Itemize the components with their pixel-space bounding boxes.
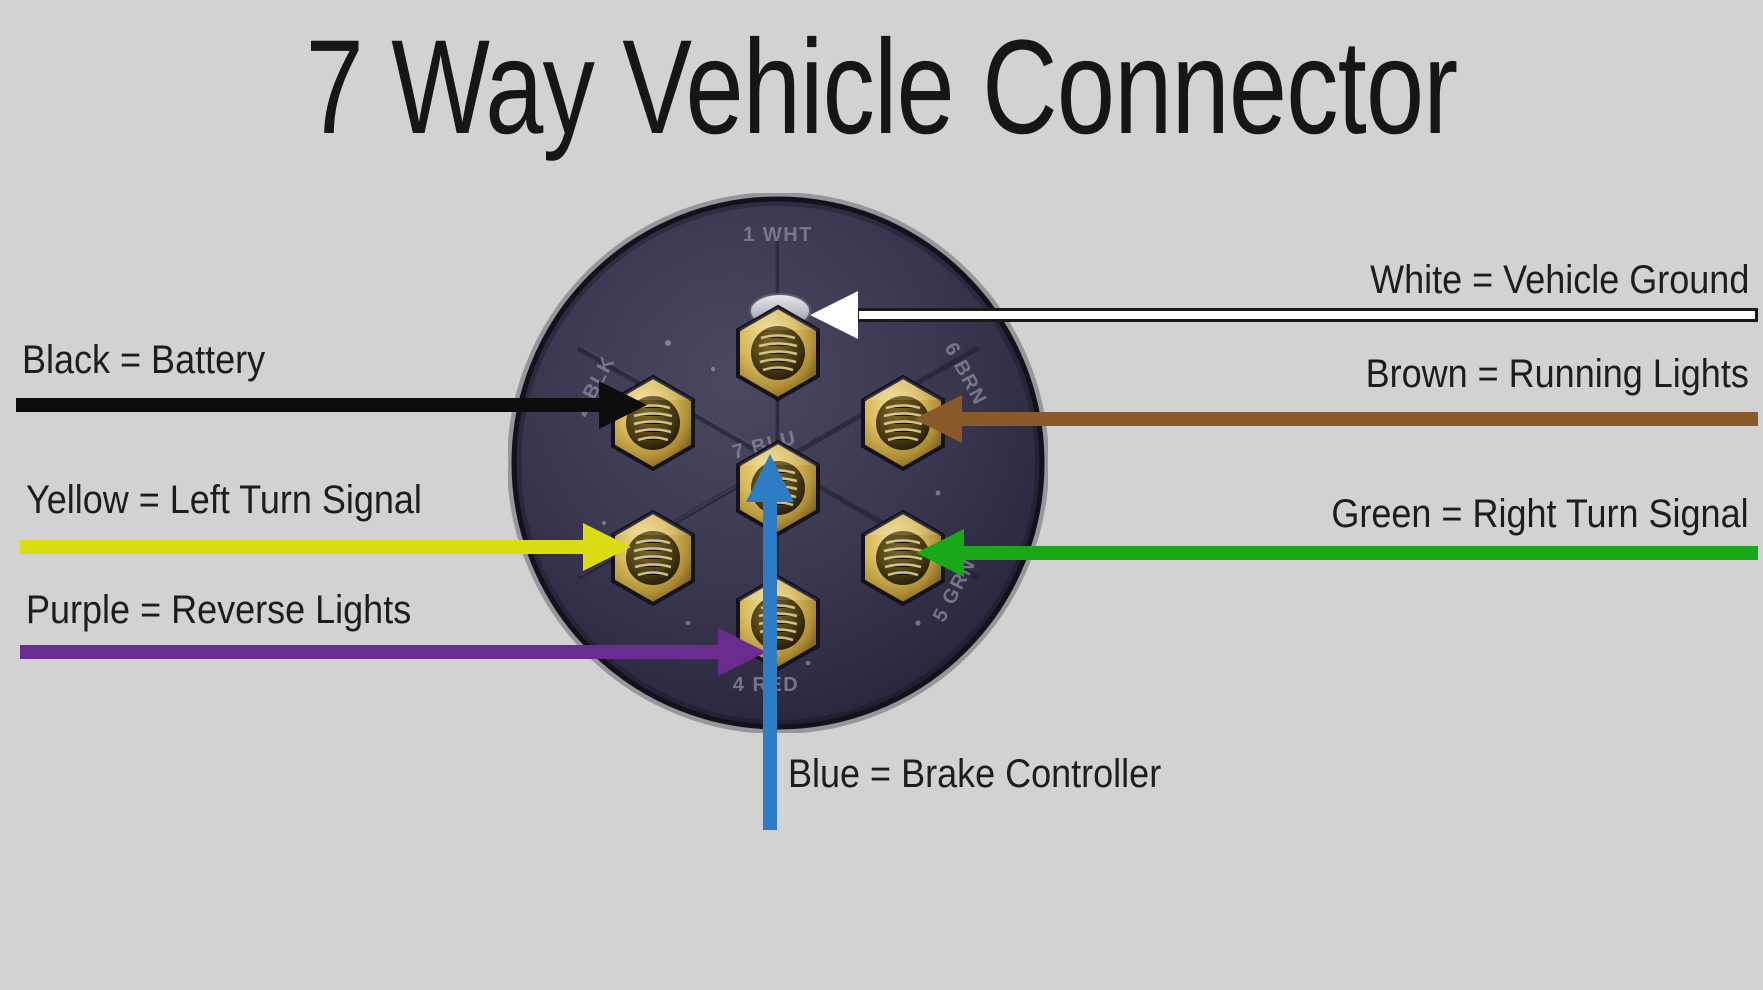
leader-white [856, 308, 1758, 322]
leader-black [16, 398, 601, 412]
arrowhead-purple-icon [718, 628, 766, 676]
label-blue-brake-controller: Blue = Brake Controller [788, 752, 1161, 797]
connector-diagram-canvas: 7 Way Vehicle Connector [0, 0, 1763, 990]
label-yellow-left-turn: Yellow = Left Turn Signal [26, 478, 422, 523]
arrowhead-green-icon [916, 529, 964, 577]
leader-green-bar [962, 546, 1758, 560]
label-white-ground: White = Vehicle Ground [1370, 258, 1749, 303]
arrowhead-blue-icon [746, 454, 794, 502]
emboss-1-wht: 1 WHT [743, 224, 813, 246]
leader-blue-bar [763, 498, 777, 830]
label-brown-running: Brown = Running Lights [1366, 352, 1749, 397]
arrowhead-yellow-icon [583, 523, 631, 571]
leader-purple-bar [20, 645, 720, 659]
page-title: 7 Way Vehicle Connector [194, 18, 1569, 159]
leader-yellow-bar [20, 540, 585, 554]
leader-brown-bar [960, 412, 1758, 426]
label-purple-reverse: Purple = Reverse Lights [26, 588, 411, 633]
leader-green [962, 546, 1758, 560]
leader-purple [20, 645, 720, 659]
arrowhead-white-icon [810, 291, 858, 339]
label-black-battery: Black = Battery [22, 338, 265, 383]
leader-blue [763, 498, 777, 830]
leader-brown [960, 412, 1758, 426]
terminal-1-wht [738, 307, 818, 399]
leader-yellow [20, 540, 585, 554]
leader-black-bar [16, 398, 601, 412]
arrowhead-black-icon [599, 381, 647, 429]
label-green-right-turn: Green = Right Turn Signal [1332, 492, 1749, 537]
leader-white-bar [856, 308, 1758, 322]
arrowhead-brown-icon [914, 395, 962, 443]
